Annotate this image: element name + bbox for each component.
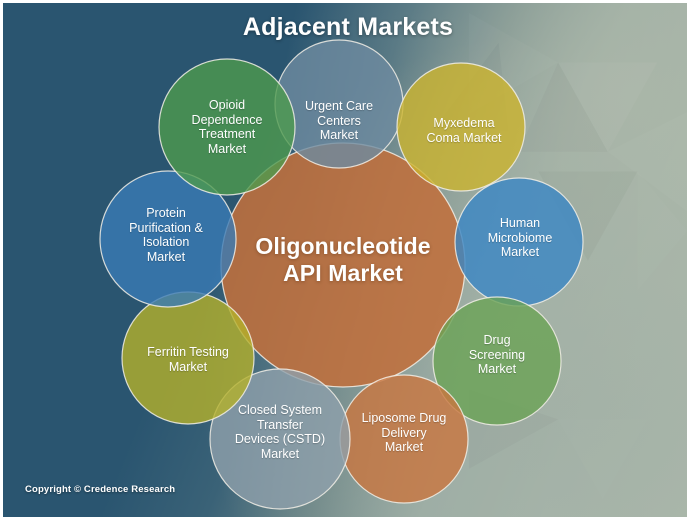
page-title: Adjacent Markets [3, 13, 690, 42]
satellite-circle-opioid-dependence[interactable] [159, 59, 295, 195]
satellite-circle-human-microbiome[interactable] [455, 178, 583, 306]
copyright-notice: Copyright © Credence Research [25, 484, 175, 495]
satellite-circle-urgent-care-centers[interactable] [275, 40, 403, 168]
satellite-circle-ferritin-testing[interactable] [122, 292, 254, 424]
satellite-circle-myxedema-coma[interactable] [397, 63, 525, 191]
diagram-canvas: Adjacent Markets Oligonucleotide API Mar… [0, 0, 690, 520]
venn-diagram [3, 3, 690, 520]
satellite-circle-liposome-drug-delivery[interactable] [340, 375, 468, 503]
